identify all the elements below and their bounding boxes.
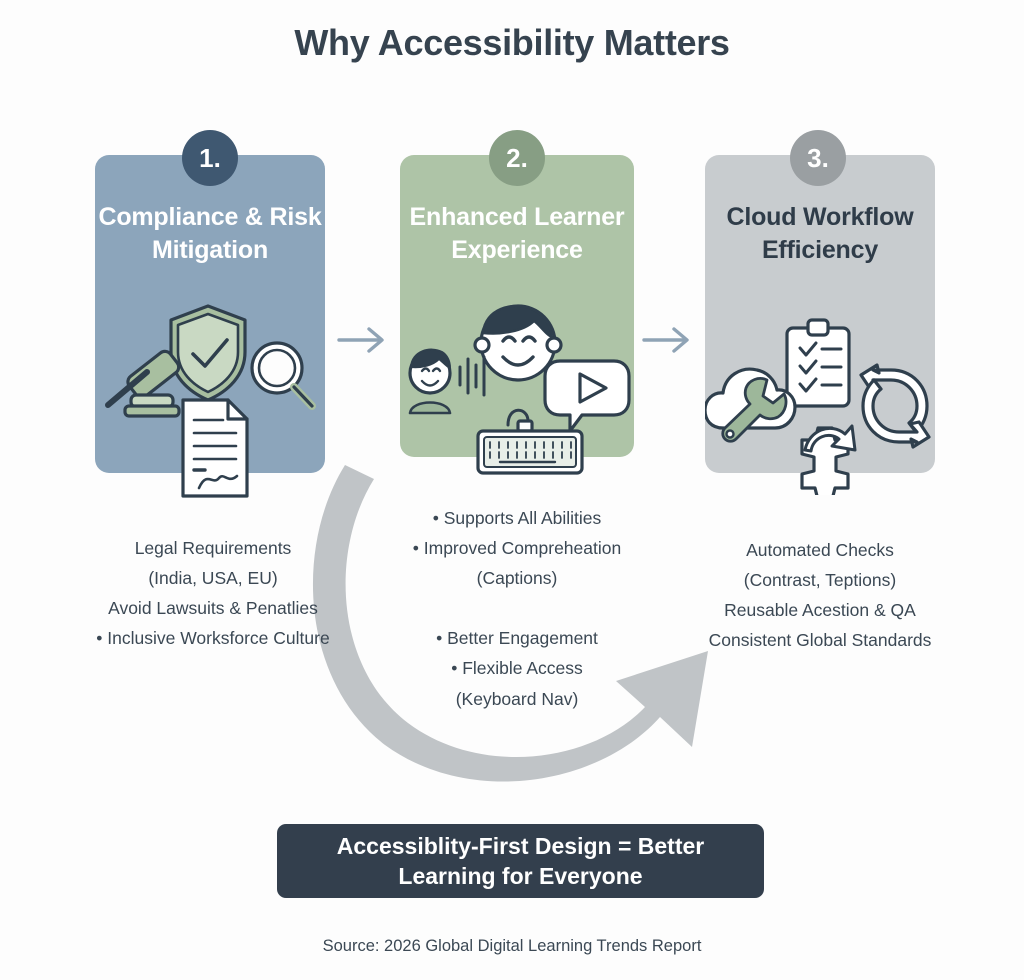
card1-body-text: Legal Requirements (India, USA, EU) Avoi… xyxy=(78,533,348,653)
card-badge-3: 3. xyxy=(790,130,846,186)
card-learner-experience[interactable]: Enhanced Learner Experience xyxy=(400,155,634,457)
card-badge-1: 1. xyxy=(182,130,238,186)
page-title: Why Accessibility Matters xyxy=(0,22,1024,64)
summary-banner[interactable]: Accessiblity-First Design = Better Learn… xyxy=(277,824,764,898)
card3-body-text: Automated Checks (Contrast, Teptions) Re… xyxy=(690,535,950,655)
card-title: Enhanced Learner Experience xyxy=(400,201,634,266)
connector-arrow-2 xyxy=(638,320,698,360)
card-title: Cloud Workflow Efficiency xyxy=(705,201,935,266)
card-compliance[interactable]: Compliance & Risk Mitigation xyxy=(95,155,325,473)
source-caption: Source: 2026 Global Digital Learning Tre… xyxy=(0,937,1024,956)
card2-body-text: • Supports All Abilities • Improved Comp… xyxy=(392,503,642,714)
connector-arrow-1 xyxy=(333,320,393,360)
card-title: Compliance & Risk Mitigation xyxy=(95,201,325,266)
infographic-canvas: Why Accessibility Matters Compliance & R… xyxy=(0,0,1024,980)
card-badge-2: 2. xyxy=(489,130,545,186)
summary-banner-text: Accessiblity-First Design = Better Learn… xyxy=(337,831,704,892)
card-cloud-workflow[interactable]: Cloud Workflow Efficiency xyxy=(705,155,935,473)
